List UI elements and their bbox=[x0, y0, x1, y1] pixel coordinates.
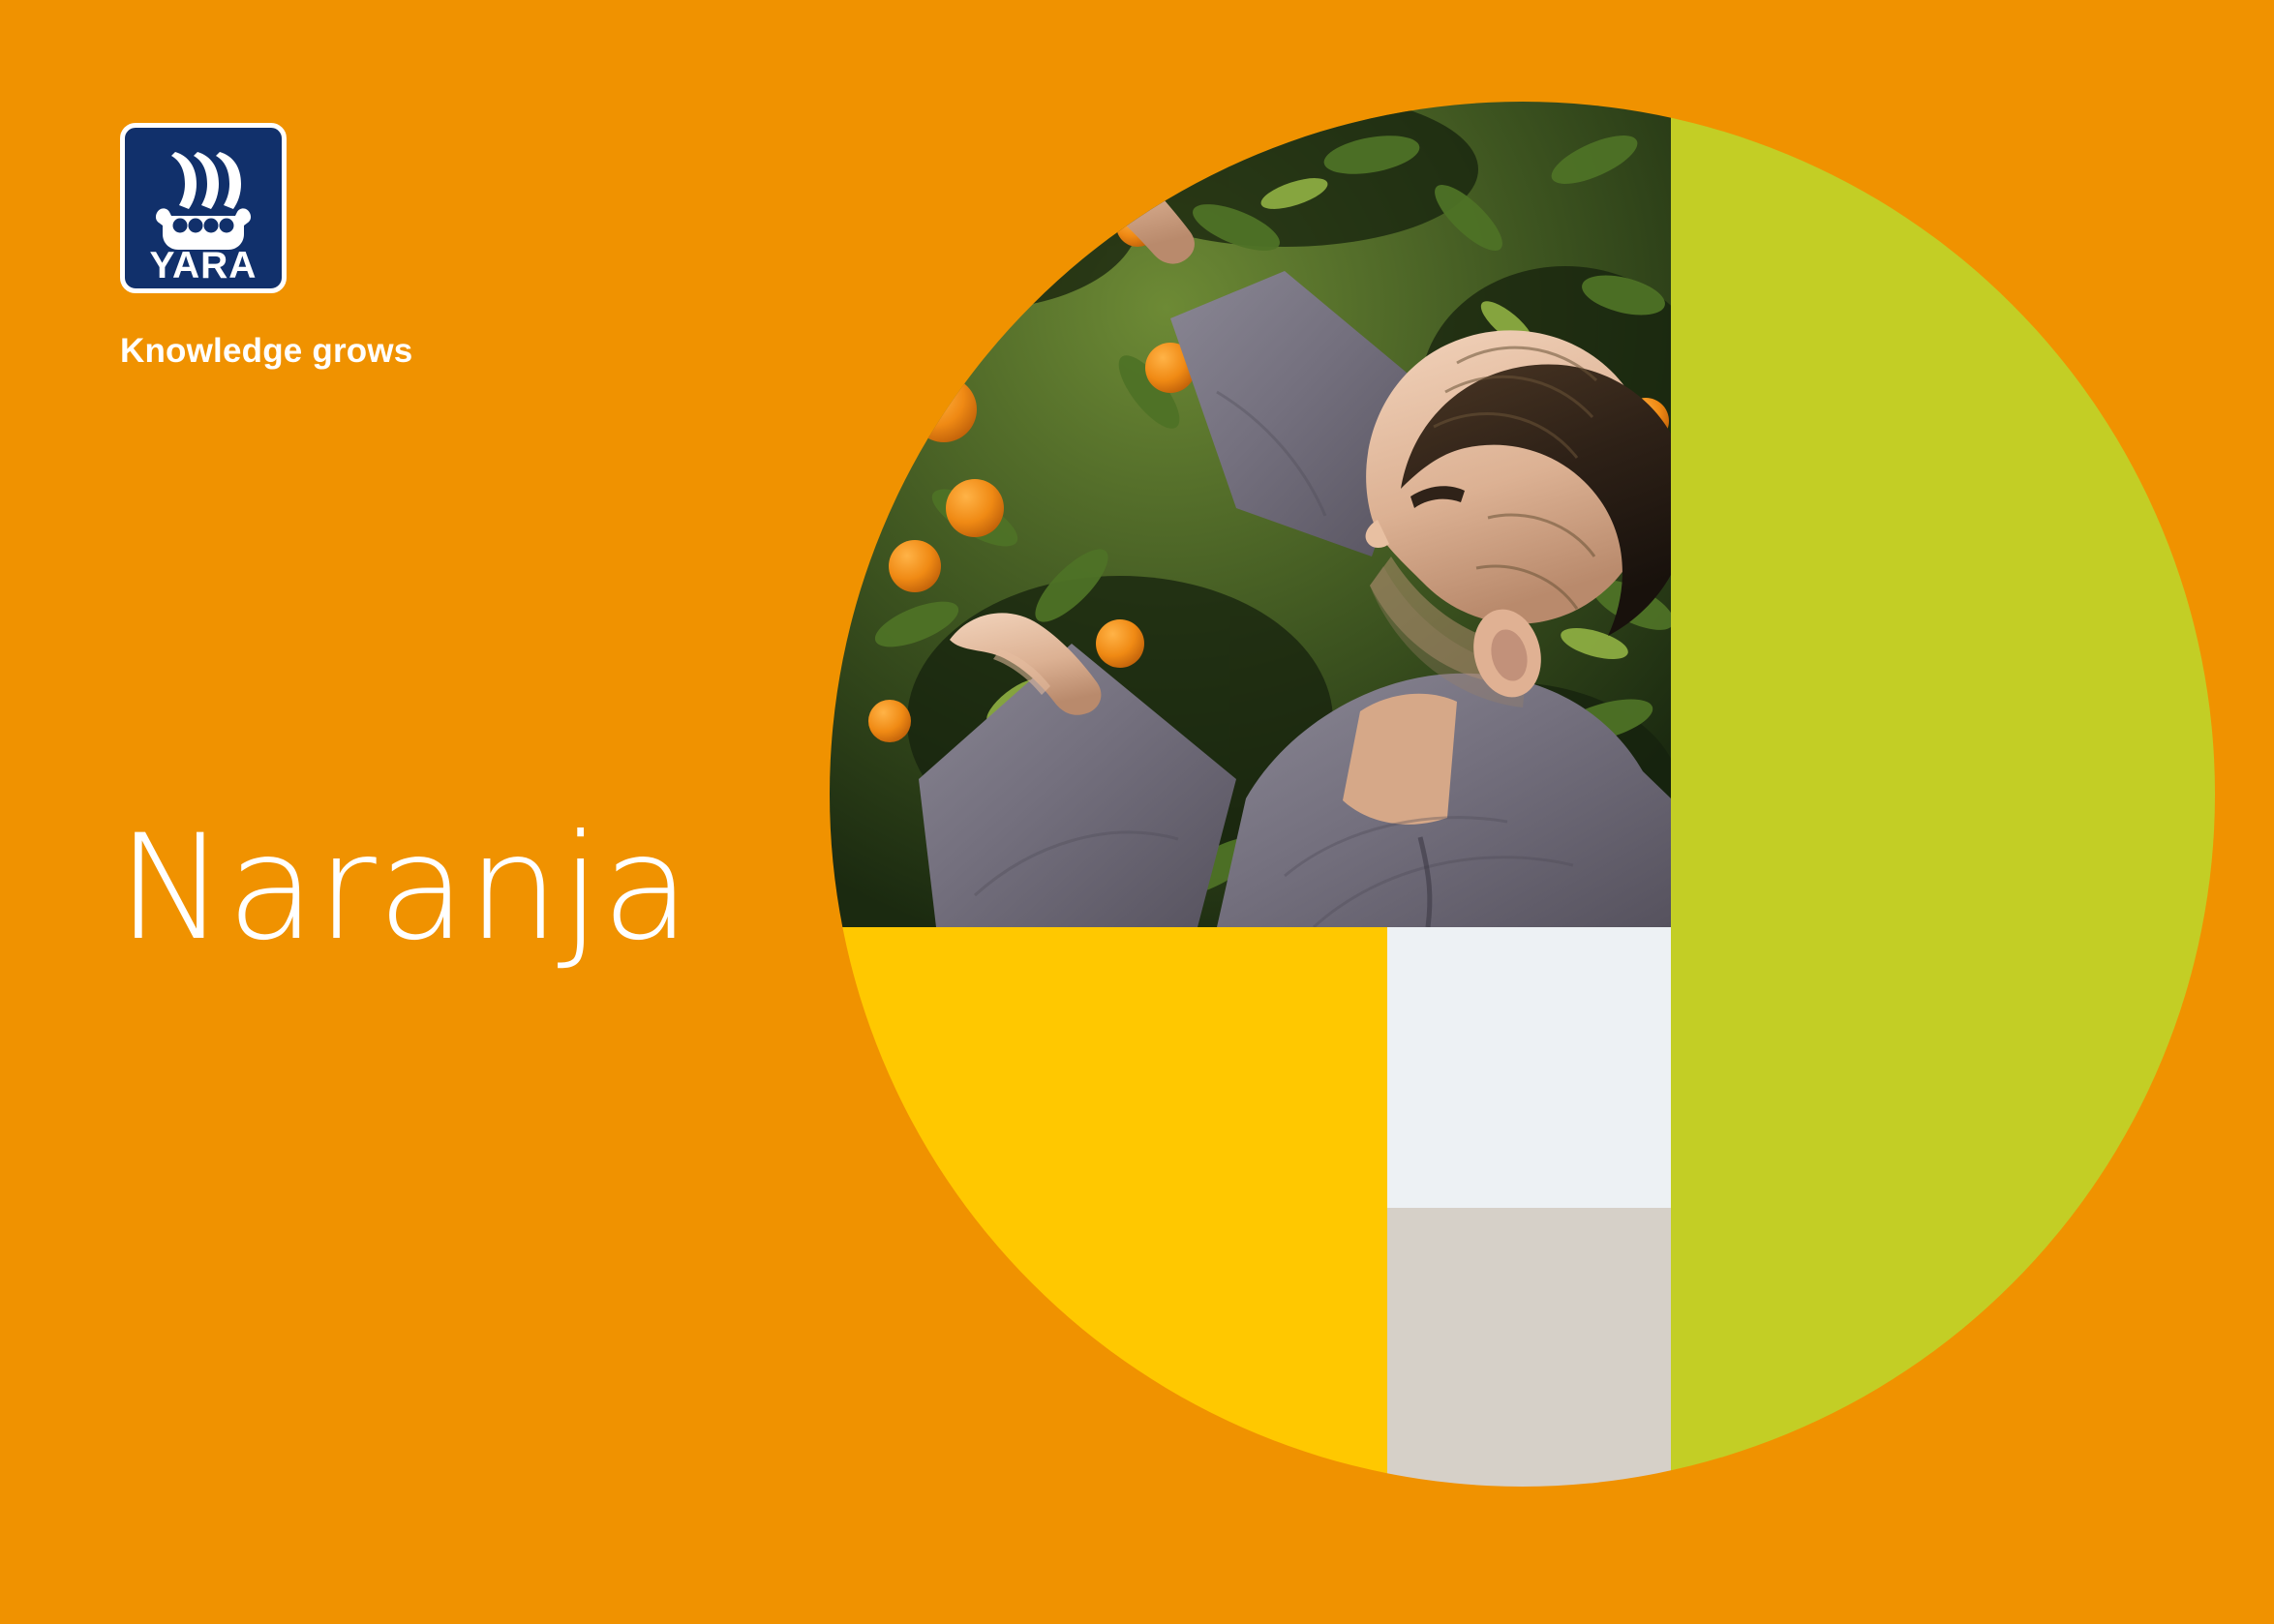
svg-text:YARA: YARA bbox=[150, 245, 258, 286]
yara-logo[interactable]: YARA bbox=[120, 123, 287, 293]
cover-page: YARA Knowledge grows Naranja bbox=[0, 0, 2274, 1624]
green-tile bbox=[1671, 102, 2215, 1487]
photo-tile bbox=[830, 102, 1671, 927]
pale-tile bbox=[1387, 927, 1671, 1208]
man-harvesting-oranges-photo bbox=[830, 102, 1671, 927]
beige-tile bbox=[1387, 1208, 1671, 1487]
viking-ship-icon: YARA bbox=[120, 123, 287, 293]
page-title: Naranja bbox=[117, 816, 691, 961]
circular-collage bbox=[830, 102, 2215, 1487]
brand-tagline: Knowledge grows bbox=[120, 332, 412, 371]
yellow-tile bbox=[830, 927, 1387, 1487]
